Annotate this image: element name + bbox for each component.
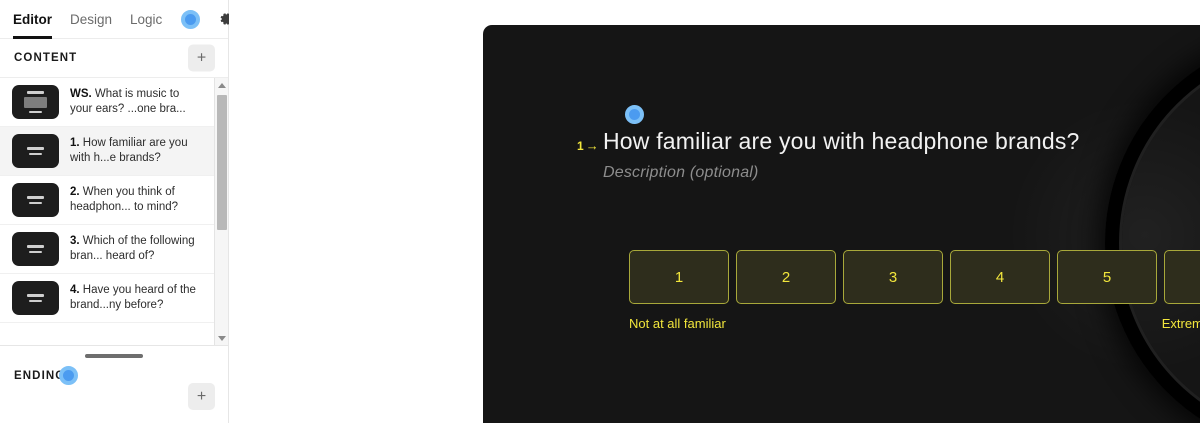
rating-option-3[interactable]: 3: [843, 250, 943, 304]
list-item-prefix: 2.: [70, 186, 80, 198]
question-block: 1 → How familiar are you with headphone …: [603, 128, 1080, 182]
rating-option-2[interactable]: 2: [736, 250, 836, 304]
list-item-prefix: WS.: [70, 88, 92, 100]
welcome-screen-icon: [12, 85, 59, 119]
cursor-marker-dot: [625, 105, 644, 124]
rating-option-6[interactable]: 6: [1164, 250, 1200, 304]
scrollbar-thumb[interactable]: [217, 95, 227, 230]
content-section-header: CONTENT +: [0, 39, 228, 77]
question-number: 1 →: [577, 138, 599, 153]
typeform-editor-app: Editor Design Logic CONTENT +: [0, 0, 1200, 423]
rating-scale-right-label[interactable]: Extremely familiar: [1162, 316, 1200, 331]
tab-design[interactable]: Design: [70, 0, 112, 39]
tab-editor-label: Editor: [13, 12, 52, 27]
add-ending-button[interactable]: +: [188, 383, 215, 410]
list-item-prefix: 3.: [70, 235, 80, 247]
question-description-input[interactable]: Description (optional): [603, 164, 1080, 182]
form-preview-canvas: Layout 1 → How familiar are you with hea…: [483, 25, 1200, 423]
scroll-up-arrow-icon[interactable]: [215, 78, 228, 92]
question-icon: [12, 183, 59, 217]
list-item-prefix: 1.: [70, 137, 80, 149]
rating-option-4[interactable]: 4: [950, 250, 1050, 304]
list-item[interactable]: WS. What is music to your ears? ...one b…: [0, 78, 214, 127]
rating-option-5[interactable]: 5: [1057, 250, 1157, 304]
list-item[interactable]: 1. How familiar are you with h...e brand…: [0, 127, 214, 176]
list-item-text: Have you heard of the brand...ny before?: [70, 284, 196, 312]
cursor-marker-dot: [59, 366, 78, 385]
scroll-down-arrow-icon[interactable]: [215, 331, 228, 345]
list-item[interactable]: 2. When you think of headphon... to mind…: [0, 176, 214, 225]
tab-logic[interactable]: Logic: [130, 0, 162, 39]
list-item-prefix: 4.: [70, 284, 80, 296]
content-list: WS. What is music to your ears? ...one b…: [0, 78, 214, 345]
rating-scale-labels: Not at all familiar Extremely familiar: [629, 316, 1200, 331]
cursor-marker-dot: [181, 10, 200, 29]
list-item[interactable]: 3. Which of the following bran... heard …: [0, 225, 214, 274]
question-icon: [12, 281, 59, 315]
add-content-button[interactable]: +: [188, 45, 215, 72]
list-item-label: 1. How familiar are you with h...e brand…: [70, 136, 204, 167]
list-item[interactable]: 4. Have you heard of the brand...ny befo…: [0, 274, 214, 323]
content-list-wrapper: WS. What is music to your ears? ...one b…: [0, 77, 228, 345]
list-item-label: 2. When you think of headphon... to mind…: [70, 185, 204, 216]
arrow-right-icon: →: [586, 138, 599, 153]
list-item-text: Which of the following bran... heard of?: [70, 235, 195, 263]
tab-design-label: Design: [70, 12, 112, 27]
tab-editor[interactable]: Editor: [13, 0, 52, 39]
sidebar-tabbar: Editor Design Logic: [0, 0, 228, 39]
panel-resize-handle[interactable]: [85, 354, 143, 358]
question-icon: [12, 232, 59, 266]
list-item-text: How familiar are you with h...e brands?: [70, 137, 188, 165]
endings-section-header: ENDINGS +: [0, 345, 228, 423]
question-number-value: 1: [577, 139, 584, 153]
rating-scale: 1 2 3 4 5 6 Not at all familiar Extremel…: [629, 250, 1200, 331]
rating-option-1[interactable]: 1: [629, 250, 729, 304]
tab-logic-label: Logic: [130, 12, 162, 27]
question-icon: [12, 134, 59, 168]
question-title[interactable]: How familiar are you with headphone bran…: [603, 128, 1080, 155]
canvas-area: Layout 1 → How familiar are you with hea…: [229, 0, 1200, 423]
list-item-label: 4. Have you heard of the brand...ny befo…: [70, 283, 204, 314]
content-list-scrollbar[interactable]: [214, 78, 228, 345]
rating-scale-left-label[interactable]: Not at all familiar: [629, 316, 726, 331]
rating-scale-options: 1 2 3 4 5 6: [629, 250, 1200, 304]
list-item-label: WS. What is music to your ears? ...one b…: [70, 87, 204, 118]
sidebar: Editor Design Logic CONTENT +: [0, 0, 229, 423]
content-section-title: CONTENT: [14, 52, 77, 64]
list-item-label: 3. Which of the following bran... heard …: [70, 234, 204, 265]
list-item-text: When you think of headphon... to mind?: [70, 186, 178, 214]
